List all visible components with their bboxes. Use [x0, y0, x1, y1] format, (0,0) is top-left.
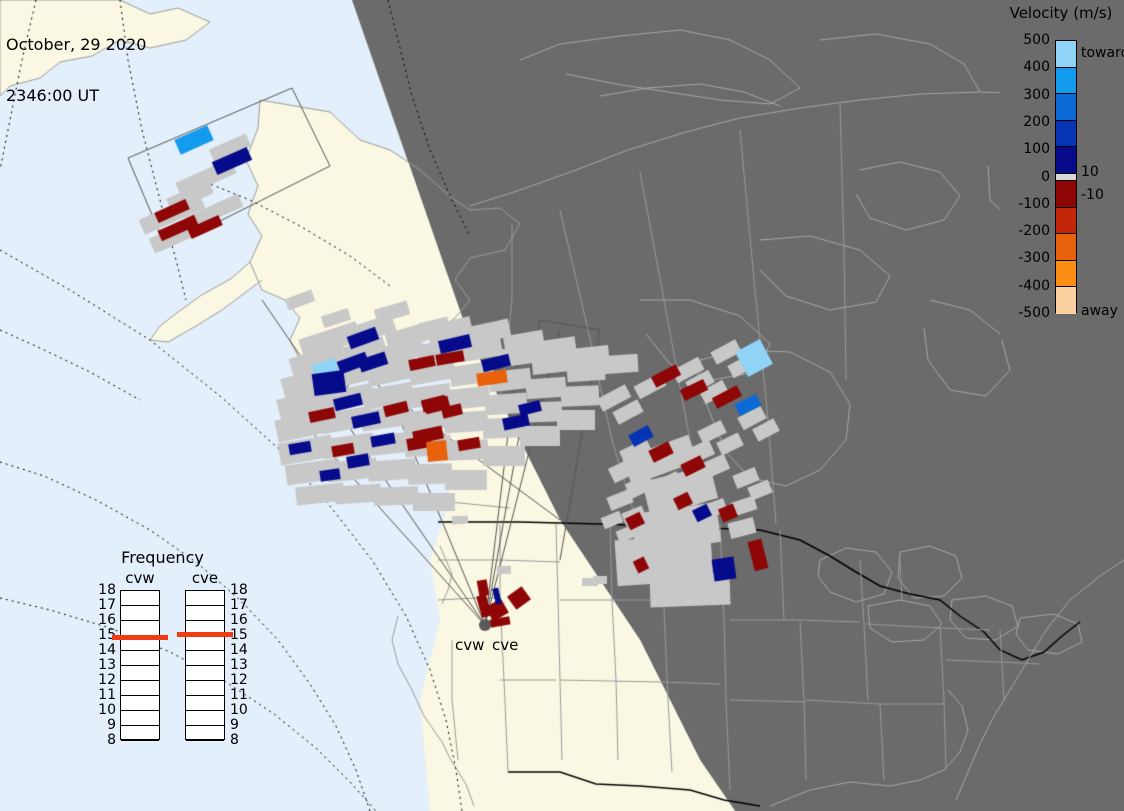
site-label-cvw[interactable]: cvw — [455, 636, 484, 654]
frequency-segment — [186, 711, 224, 726]
frequency-tick-cve-14: 14 — [230, 642, 248, 658]
frequency-tick-cvw-14: 14 — [92, 642, 116, 658]
colorbar-strip — [1055, 40, 1077, 313]
colorbar-label-10: 10 — [1081, 164, 1099, 180]
colorbar-label-minus10: -10 — [1081, 187, 1104, 203]
frequency-segment — [186, 726, 224, 741]
colorbar-tick-400: 400 — [1023, 59, 1050, 75]
colorbar-band-0 — [1056, 174, 1076, 181]
date-label: October, 29 2020 — [6, 36, 146, 53]
colorbar-label-toward: toward — [1081, 45, 1124, 61]
frequency-marker-cve — [177, 632, 233, 637]
frequency-tick-cve-17: 17 — [230, 597, 248, 613]
frequency-tick-cvw-13: 13 — [92, 657, 116, 673]
frequency-tick-cvw-11: 11 — [92, 687, 116, 703]
colorbar-tick--300: -300 — [1018, 250, 1050, 266]
frequency-segment — [121, 591, 159, 606]
frequency-marker-cvw — [112, 635, 168, 640]
colorbar-tick-100: 100 — [1023, 141, 1050, 157]
colorbar-band-450 — [1056, 41, 1076, 68]
colorbar-tick-300: 300 — [1023, 87, 1050, 103]
frequency-tick-cve-9: 9 — [230, 717, 239, 733]
colorbar-tick--500: -500 — [1018, 305, 1050, 321]
frequency-segment — [186, 606, 224, 621]
frequency-segment — [186, 651, 224, 666]
superdarn-map-page: October, 29 2020 2346:00 UT Velocity (m/… — [0, 0, 1124, 811]
timestamp-block: October, 29 2020 2346:00 UT — [6, 2, 146, 138]
colorbar-tick--400: -400 — [1018, 278, 1050, 294]
frequency-segment — [121, 681, 159, 696]
colorbar-title: Velocity (m/s) — [996, 4, 1124, 22]
colorbar-band--50 — [1056, 181, 1076, 208]
velocity-colorbar: Velocity (m/s) 5004003002001000-100-200-… — [1000, 0, 1124, 340]
frequency-segment — [121, 621, 159, 636]
frequency-legend-title: Frequency — [95, 548, 230, 567]
frequency-gauge-box-cve — [185, 590, 225, 740]
colorbar-tick-200: 200 — [1023, 114, 1050, 130]
frequency-tick-cvw-9: 9 — [92, 717, 116, 733]
frequency-tick-cve-10: 10 — [230, 702, 248, 718]
frequency-tick-cve-11: 11 — [230, 687, 248, 703]
frequency-segment — [186, 681, 224, 696]
frequency-tick-cve-18: 18 — [230, 582, 248, 598]
frequency-tick-cvw-18: 18 — [92, 582, 116, 598]
frequency-tick-cve-13: 13 — [230, 657, 248, 673]
colorbar-band-150 — [1056, 121, 1076, 148]
frequency-segment — [121, 606, 159, 621]
frequency-tick-cvw-16: 16 — [92, 612, 116, 628]
frequency-tick-cvw-8: 8 — [92, 732, 116, 748]
frequency-segment — [121, 666, 159, 681]
colorbar-band--150 — [1056, 208, 1076, 235]
frequency-tick-cve-16: 16 — [230, 612, 248, 628]
colorbar-band-350 — [1056, 68, 1076, 95]
frequency-gauge-name-cvw: cvw — [120, 569, 160, 587]
colorbar-tick--200: -200 — [1018, 223, 1050, 239]
frequency-segment — [121, 726, 159, 741]
colorbar-label-away: away — [1081, 303, 1118, 319]
frequency-tick-cve-12: 12 — [230, 672, 248, 688]
frequency-segment — [186, 666, 224, 681]
frequency-tick-cve-8: 8 — [230, 732, 239, 748]
site-label-cve[interactable]: cve — [492, 636, 518, 654]
frequency-gauge-cvw: cvw18171615141312111098 — [120, 590, 160, 740]
frequency-tick-cvw-12: 12 — [92, 672, 116, 688]
frequency-gauge-box-cvw — [120, 590, 160, 740]
colorbar-band--250 — [1056, 234, 1076, 261]
colorbar-tick--100: -100 — [1018, 196, 1050, 212]
colorbar-band--450 — [1056, 287, 1076, 314]
frequency-segment — [121, 696, 159, 711]
frequency-segment — [121, 711, 159, 726]
colorbar-band--350 — [1056, 261, 1076, 288]
frequency-segment — [186, 636, 224, 651]
frequency-legend: Frequency cvw18171615141312111098cve1817… — [95, 548, 230, 793]
frequency-segment — [186, 696, 224, 711]
frequency-tick-cvw-17: 17 — [92, 597, 116, 613]
frequency-tick-cvw-10: 10 — [92, 702, 116, 718]
frequency-segment — [186, 591, 224, 606]
frequency-segment — [121, 651, 159, 666]
colorbar-band-250 — [1056, 94, 1076, 121]
frequency-gauge-cve: cve18171615141312111098 — [185, 590, 225, 740]
colorbar-tick-500: 500 — [1023, 32, 1050, 48]
colorbar-tick-0: 0 — [1041, 169, 1050, 185]
colorbar-band-50 — [1056, 147, 1076, 174]
time-label: 2346:00 UT — [6, 87, 146, 104]
frequency-gauge-name-cve: cve — [185, 569, 225, 587]
